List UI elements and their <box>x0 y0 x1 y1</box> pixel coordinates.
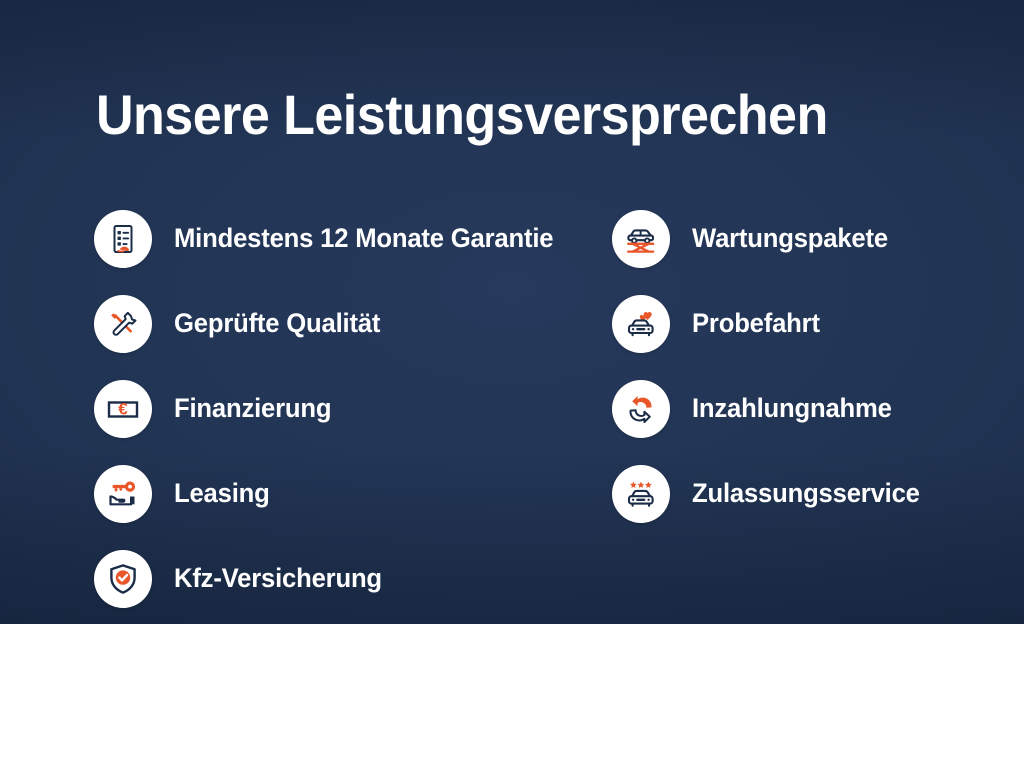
car-on-lift-icon <box>612 210 670 268</box>
feature-label: Wartungspakete <box>692 223 888 254</box>
feature-item-wartungspakete[interactable]: Wartungspakete <box>612 196 1012 281</box>
feature-label: Inzahlungnahme <box>692 393 892 424</box>
banknote-euro-icon: € <box>94 380 152 438</box>
promo-banner: Unsere Leistungsversprechen <box>0 0 1024 768</box>
feature-label: Geprüfte Qualität <box>174 308 380 339</box>
feature-item-garantie[interactable]: Mindestens 12 Monate Garantie <box>94 196 614 281</box>
features-column-left: Mindestens 12 Monate Garantie <box>94 196 614 621</box>
wrench-screwdriver-icon <box>94 295 152 353</box>
car-hearts-icon <box>612 295 670 353</box>
feature-item-zulassungsservice[interactable]: Zulassungsservice <box>612 451 1012 536</box>
key-in-hand-icon <box>94 465 152 523</box>
feature-item-probefahrt[interactable]: Probefahrt <box>612 281 1012 366</box>
feature-label: Kfz-Versicherung <box>174 563 382 594</box>
footer-bar: VOETS BRAUNSCHWEIG VOETSVERIFIED <box>0 624 1024 768</box>
feature-item-inzahlungnahme[interactable]: Inzahlungnahme <box>612 366 1012 451</box>
feature-item-qualitaet[interactable]: Geprüfte Qualität <box>94 281 614 366</box>
exchange-arrows-icon <box>612 380 670 438</box>
svg-text:€: € <box>118 399 128 418</box>
feature-item-finanzierung[interactable]: € Finanzierung <box>94 366 614 451</box>
car-stars-icon <box>612 465 670 523</box>
hero-panel: Unsere Leistungsversprechen <box>0 0 1024 624</box>
feature-label: Probefahrt <box>692 308 820 339</box>
features-column-right: Wartungspakete <box>612 196 1012 536</box>
feature-item-leasing[interactable]: Leasing <box>94 451 614 536</box>
feature-label: Finanzierung <box>174 393 331 424</box>
feature-label: Mindestens 12 Monate Garantie <box>174 223 553 254</box>
shield-check-icon <box>94 550 152 608</box>
certificate-document-icon <box>94 210 152 268</box>
page-title: Unsere Leistungsversprechen <box>96 84 828 146</box>
feature-label: Zulassungsservice <box>692 478 920 509</box>
feature-item-versicherung[interactable]: Kfz-Versicherung <box>94 536 614 621</box>
feature-label: Leasing <box>174 478 270 509</box>
